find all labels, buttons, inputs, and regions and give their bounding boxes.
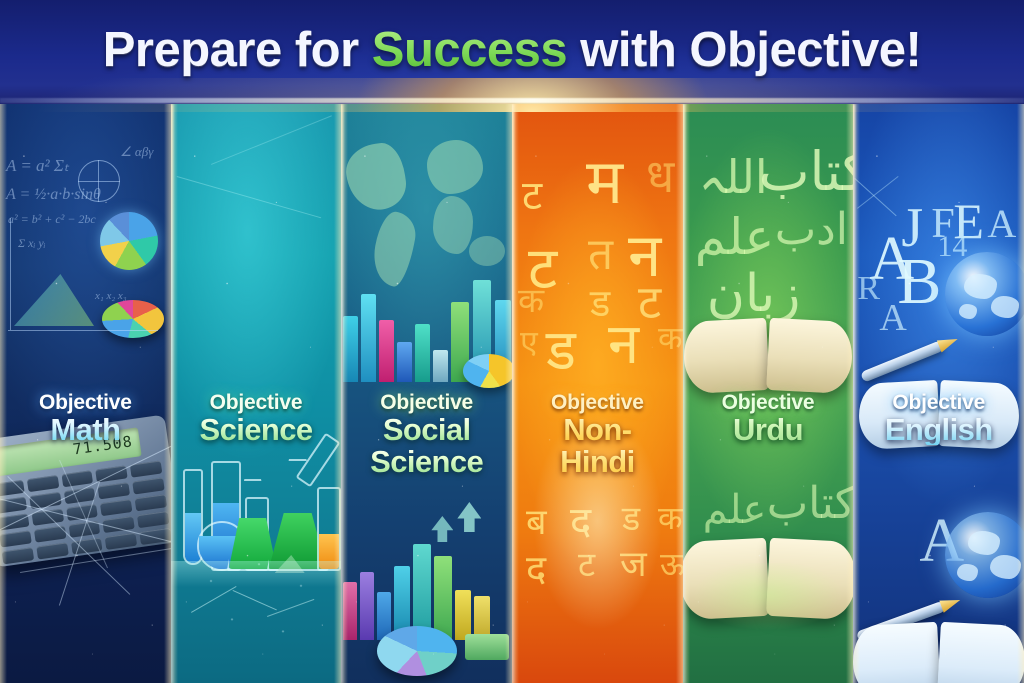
open-book-urdu-lower: [683, 540, 854, 618]
non-hindi-prefix-label: Objective: [516, 392, 679, 413]
letter-glyph-R: R: [857, 270, 880, 308]
devanagari-glyph: ड: [546, 310, 576, 386]
social-science-subject-line-2: Science: [345, 446, 508, 477]
urdu-calligraphy: علم: [695, 208, 775, 266]
open-book-urdu: [684, 320, 852, 392]
devanagari-glyph: द: [570, 492, 591, 547]
science-prefix-label: Objective: [175, 392, 338, 413]
english-prefix-label: Objective: [857, 392, 1020, 413]
subject-panel-urdu[interactable]: اللہ کتاب علم ادب زبان علم کتاب Objectiv…: [683, 104, 854, 683]
urdu-calligraphy: کتاب: [759, 140, 854, 203]
science-caption: Objective Science: [171, 392, 342, 445]
fountain-pen-upper: [860, 340, 944, 382]
calculator-keypad: [0, 460, 171, 564]
devanagari-glyph: न: [608, 304, 639, 380]
devanagari-glyph: ड: [622, 494, 640, 540]
math-pie-chart: [100, 212, 158, 270]
devanagari-glyph: ध: [646, 144, 674, 206]
promotional-banner: Prepare for Success with Objective! A = …: [0, 0, 1024, 683]
urdu-calligraphy: علم: [703, 486, 767, 533]
devanagari-glyph: क: [658, 316, 683, 359]
math-subject-label: Math: [4, 414, 167, 445]
devanagari-glyph: म: [586, 138, 623, 222]
urdu-calligraphy: ادب: [775, 204, 848, 255]
devanagari-glyph: त: [588, 222, 613, 282]
urdu-calligraphy: کتاب: [767, 478, 854, 529]
math-caption: Objective Math: [0, 392, 171, 445]
social-science-caption: Objective Social Science: [341, 392, 512, 477]
open-book-english-lower: [853, 624, 1024, 683]
urdu-subject-label: Urdu: [687, 414, 850, 445]
title-part-1: Prepare for: [103, 23, 372, 77]
banner-header: Prepare for Success with Objective!: [0, 0, 1024, 104]
urdu-calligraphy: اللہ: [699, 150, 768, 204]
social-pie-chart: [463, 354, 512, 388]
subject-panel-non-hindi[interactable]: ट म ध ट त न क ड ट ड न ए क ब द ड क द ट ज: [512, 104, 683, 683]
math-prefix-label: Objective: [4, 392, 167, 413]
subject-panel-social-science[interactable]: Objective Social Science: [341, 104, 512, 683]
letter-glyph-A1: A: [987, 200, 1016, 247]
non-hindi-subject-line-1: Non-: [516, 414, 679, 445]
subject-panel-math[interactable]: A = a² Σₜ A = ½·a·b·sinθ a² = b² + c² − …: [0, 104, 171, 683]
devanagari-glyph: द: [526, 542, 546, 594]
devanagari-glyph: ट: [578, 540, 595, 586]
english-caption: Objective English: [853, 392, 1024, 445]
devanagari-glyph: क: [518, 276, 544, 322]
globe-upper: [945, 252, 1024, 336]
devanagari-glyph: ट: [522, 166, 542, 221]
devanagari-glyph: क: [658, 496, 683, 539]
devanagari-glyph: ज: [620, 538, 647, 587]
science-subject-label: Science: [175, 414, 338, 445]
social-science-subject-line-1: Social: [345, 414, 508, 445]
devanagari-glyph: ऊ: [660, 542, 683, 585]
subject-panel-science[interactable]: Objective Science: [171, 104, 342, 683]
social-science-prefix-label: Objective: [345, 392, 508, 413]
subject-panel-strip: A = a² Σₜ A = ½·a·b·sinθ a² = b² + c² − …: [0, 104, 1024, 683]
urdu-prefix-label: Objective: [687, 392, 850, 413]
non-hindi-caption: Objective Non- Hindi: [512, 392, 683, 477]
urdu-caption: Objective Urdu: [683, 392, 854, 445]
non-hindi-subject-line-2: Hindi: [516, 446, 679, 477]
page-title: Prepare for Success with Objective!: [0, 22, 1024, 78]
english-subject-label: English: [857, 414, 1020, 445]
urdu-calligraphy: زبان: [707, 264, 801, 324]
title-accent-success: Success: [372, 23, 567, 77]
subject-panel-english[interactable]: J F E A A B 14 R A A: [853, 104, 1024, 683]
globe-lower: [945, 512, 1024, 598]
devanagari-glyph: ए: [520, 320, 538, 363]
devanagari-glyph: ब: [526, 496, 547, 545]
title-part-2: with Objective!: [567, 23, 921, 77]
letter-glyph-A3: A: [879, 296, 906, 340]
